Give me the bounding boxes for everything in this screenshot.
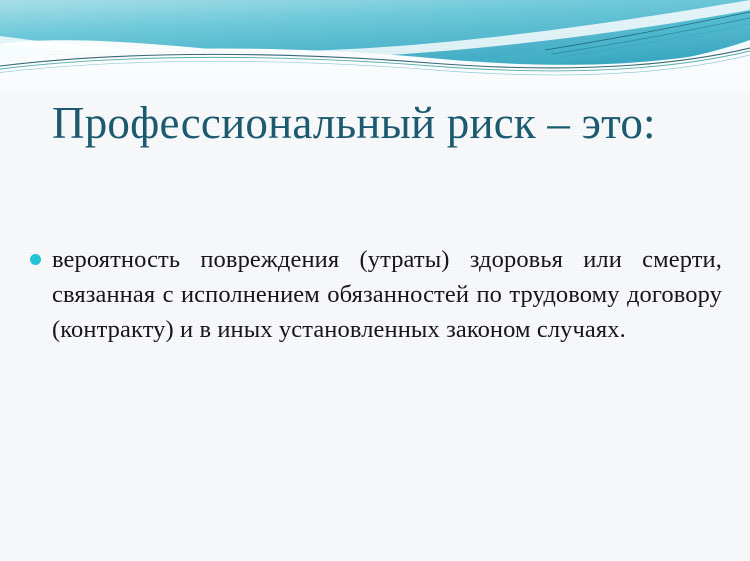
slide-title: Профессиональный риск – это:: [52, 96, 712, 151]
flow-wave-banner: [0, 0, 750, 92]
bullet-item-text: вероятность повреждения (утраты) здоровь…: [52, 243, 722, 347]
bullet-list-item: вероятность повреждения (утраты) здоровь…: [30, 243, 722, 347]
presentation-slide: Профессиональный риск – это: вероятность…: [0, 0, 750, 561]
bullet-dot-icon: [30, 254, 41, 265]
